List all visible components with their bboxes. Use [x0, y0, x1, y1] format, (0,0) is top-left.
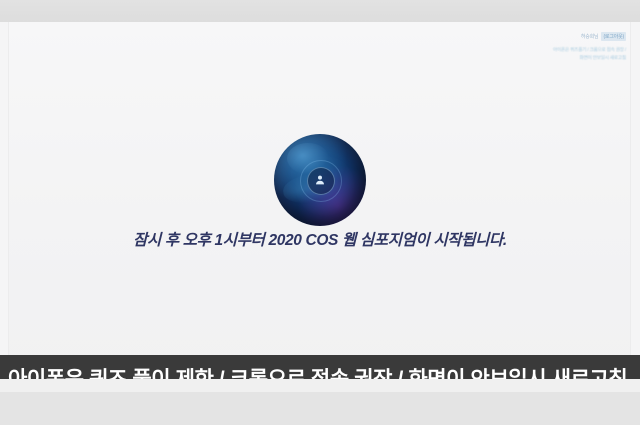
user-name-label: 허승희님	[581, 33, 599, 40]
ticker-message: 아이폰은 퀴즈 풀이 제한 / 크롬으로 접속 권장 / 화면이 안보일시 새로…	[8, 363, 627, 379]
person-icon	[311, 171, 329, 189]
browser-window: 허승희님 (로그아웃) 아이폰은 퀴즈풀기 / 크롬으로 접속 권장 / 화면이…	[0, 0, 640, 425]
logout-link[interactable]: (로그아웃)	[601, 32, 626, 41]
browser-chrome-divider	[0, 379, 640, 392]
hero-caption: 잠시 후 오후 1시부터 2020 COS 웹 심포지엄이 시작됩니다.	[0, 228, 640, 250]
browser-chrome-bottom	[0, 392, 640, 425]
page-rail-left	[8, 22, 9, 379]
page-rail-right	[630, 22, 631, 379]
page-viewport: 허승희님 (로그아웃) 아이폰은 퀴즈풀기 / 크롬으로 접속 권장 / 화면이…	[0, 22, 640, 379]
hero-globe	[274, 134, 366, 226]
ticker-banner: 아이폰은 퀴즈 풀이 제한 / 크롬으로 접속 권장 / 화면이 안보일시 새로…	[0, 355, 640, 379]
globe-sphere-icon	[274, 134, 366, 226]
user-strip-row: 허승희님 (로그아웃)	[540, 32, 626, 41]
header-notice-text: 아이폰은 퀴즈풀기 / 크롬으로 접속 권장 / 화면이 안보일시 새로고침	[540, 46, 626, 62]
user-strip: 허승희님 (로그아웃) 아이폰은 퀴즈풀기 / 크롬으로 접속 권장 / 화면이…	[540, 32, 626, 62]
browser-chrome-top	[0, 0, 640, 22]
